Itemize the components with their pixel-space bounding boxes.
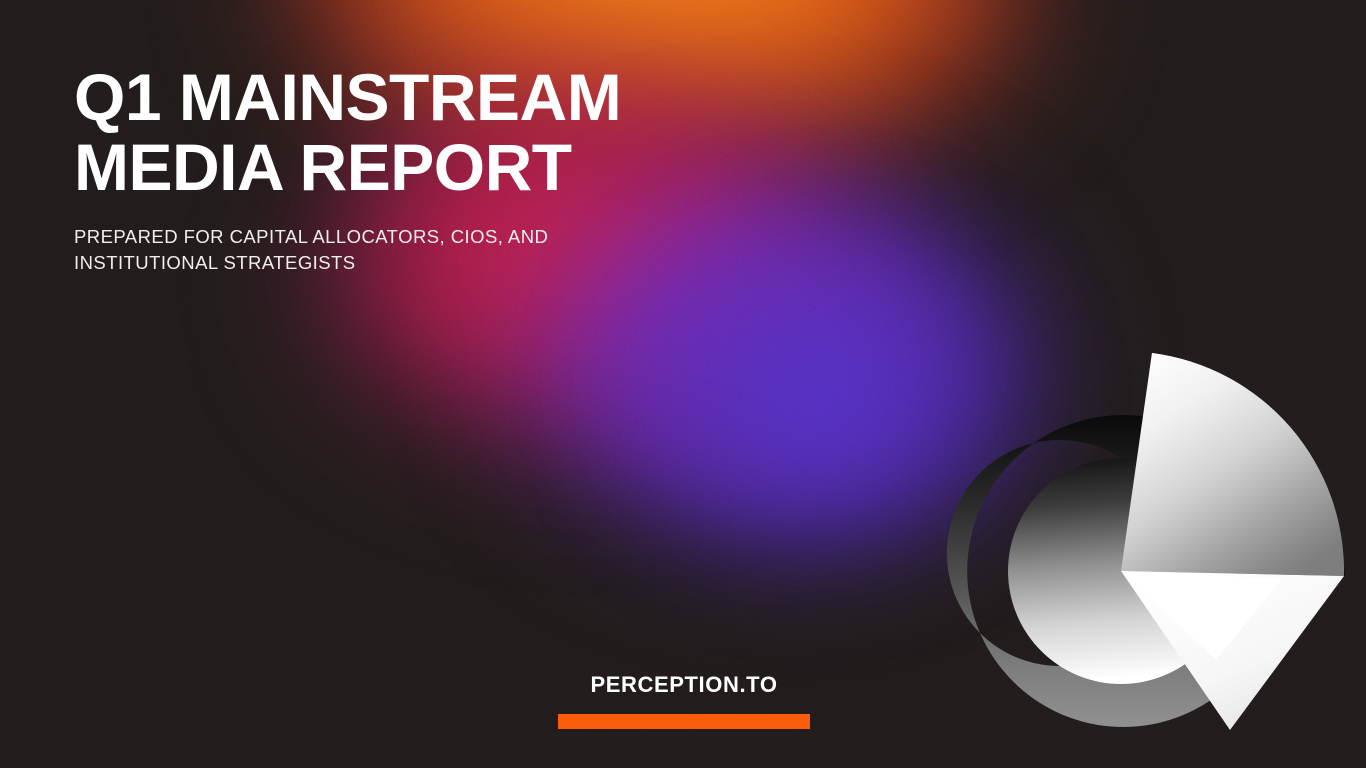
brand-name: Perception.to xyxy=(558,672,810,698)
pie-chart-svg xyxy=(930,330,1366,768)
brand-footer: Perception.to xyxy=(558,672,810,729)
pie-slice-overlay xyxy=(1121,353,1344,576)
page-title: Q1 Mainstream Media Report xyxy=(74,62,834,202)
brand-accent-rule xyxy=(558,714,810,729)
headline-block: Q1 Mainstream Media Report Prepared for … xyxy=(74,62,834,276)
page-subtitle: Prepared for capital allocators, CIOs, a… xyxy=(74,224,594,276)
report-cover-slide: Q1 Mainstream Media Report Prepared for … xyxy=(0,0,1366,768)
pie-chart-graphic xyxy=(930,330,1366,768)
